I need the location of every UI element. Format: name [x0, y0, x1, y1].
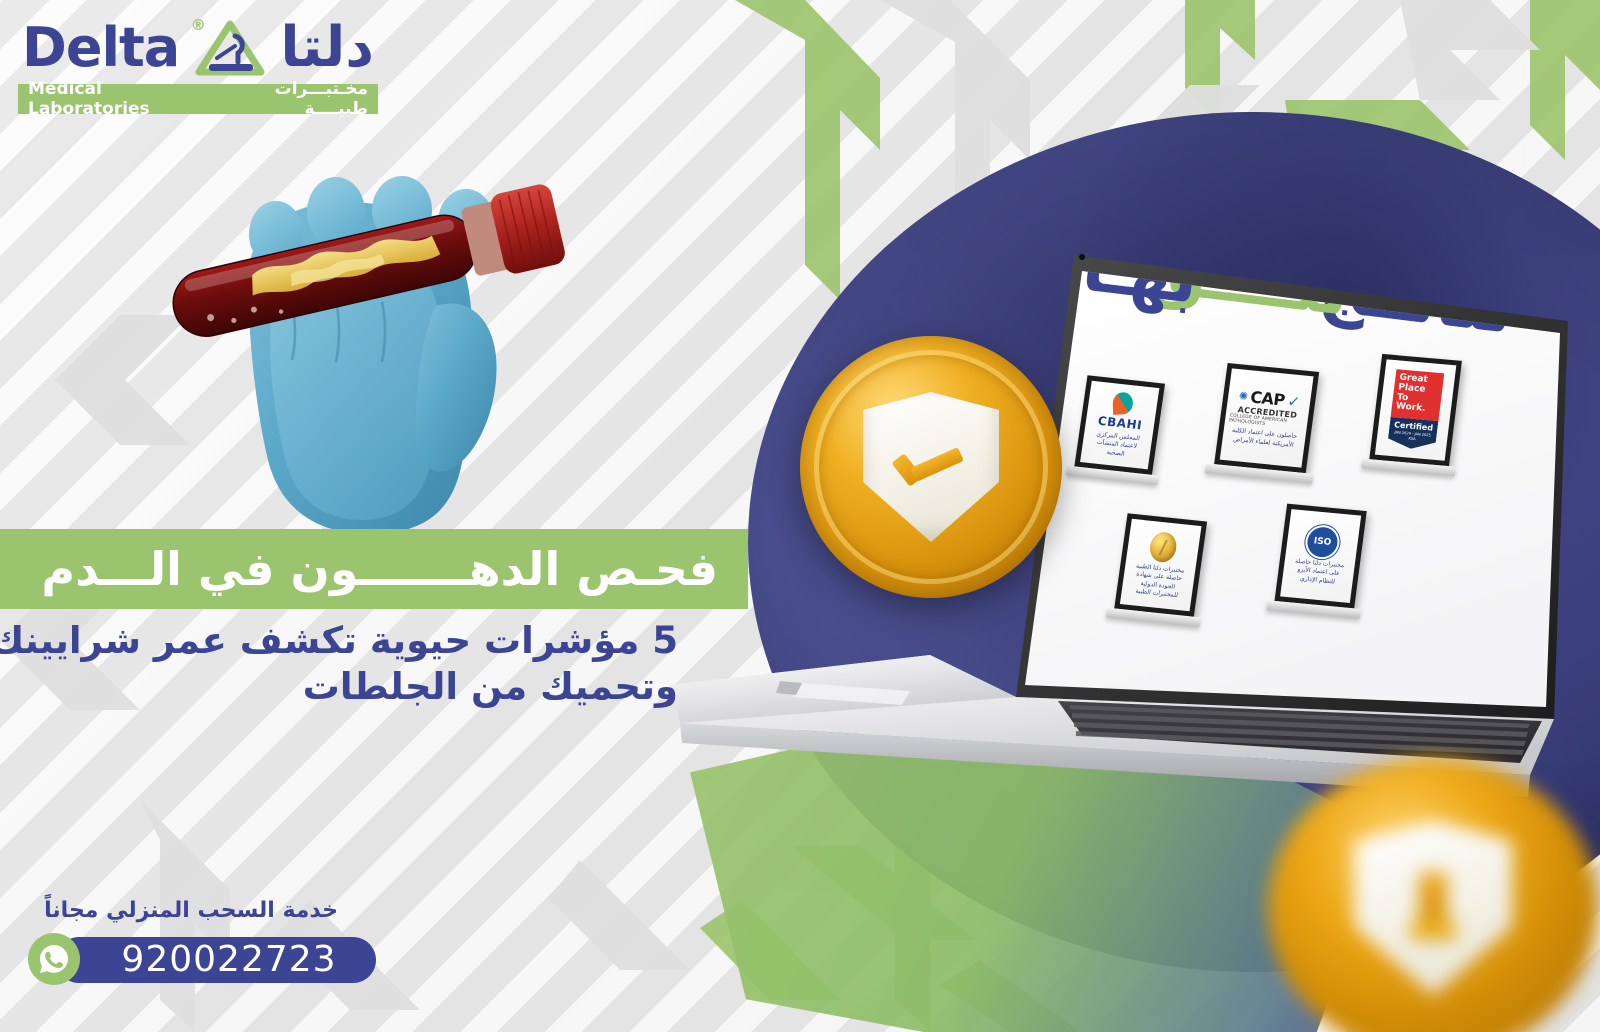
badge-icon-blurred — [1410, 872, 1456, 944]
subheading-line-2: وتحميك من الجلطات — [0, 664, 678, 710]
check-icon — [895, 447, 967, 487]
phone-row[interactable]: 920022723 — [28, 927, 388, 983]
logo-word-ar: دلتا — [280, 20, 374, 76]
brand-logo[interactable]: Delta ® دلتا Medical Laboratories مخـتبـ… — [18, 14, 378, 114]
phone-pill[interactable]: 920022723 — [56, 937, 376, 983]
gloved-hand-with-blood-tube — [140, 110, 620, 540]
whatsapp-icon[interactable] — [28, 933, 80, 985]
home-service-note: خدمة السحب المنزلي مجاناً — [28, 898, 348, 923]
poster-canvas: نتائــج تثــــق بهـا CBAHI المجلس المركز… — [0, 0, 1600, 1032]
subheading-block: 5 مؤشرات حيوية تكشف عمر شرايينك وتحميك م… — [0, 618, 700, 711]
headline-text: فحـص الدهـــــــون في الـــدم — [41, 546, 718, 592]
logo-tagline-en: Medical Laboratories — [28, 79, 216, 119]
phone-number: 920022723 — [121, 942, 336, 978]
shield-icon-blurred — [1353, 820, 1513, 996]
shield-icon — [863, 392, 999, 542]
headline-band: فحـص الدهـــــــون في الـــدم — [0, 529, 748, 609]
logo-tagline-ar: مخـتبـــرات طبيــــة — [216, 79, 368, 119]
logo-word-en: Delta — [22, 21, 179, 75]
subheading-line-1: 5 مؤشرات حيوية تكشف عمر شرايينك — [0, 618, 678, 664]
contact-block[interactable]: خدمة السحب المنزلي مجاناً 920022723 — [28, 898, 428, 983]
gold-shield-check-coin — [800, 336, 1062, 598]
logo-tagline-band: Medical Laboratories مخـتبـــرات طبيــــ… — [18, 84, 378, 114]
delta-microscope-icon: ® — [195, 18, 265, 78]
